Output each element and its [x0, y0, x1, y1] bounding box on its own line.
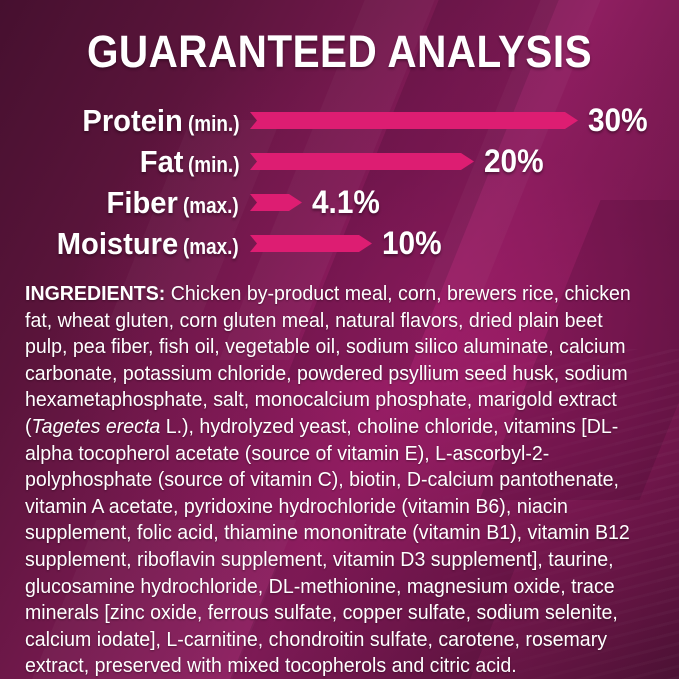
nutrient-label-moisture: Moisture(max.) [0, 226, 250, 262]
nutrient-bar-fat [250, 153, 474, 170]
nutrient-qualifier: (min.) [188, 152, 240, 178]
nutrient-bar-wrap [250, 182, 302, 223]
nutrient-bar-protein [250, 112, 578, 129]
nutrient-value-fiber: 4.1% [312, 184, 380, 221]
nutrient-value-moisture: 10% [382, 225, 442, 262]
nutrient-qualifier: (max.) [183, 193, 239, 219]
ingredients-text-part-1: Chicken by-product meal, corn, brewers r… [25, 283, 631, 438]
nutrient-label-fiber: Fiber(max.) [0, 185, 250, 221]
nutrient-name: Protein [83, 103, 183, 139]
nutrient-row-moisture: Moisture(max.) 10% [0, 223, 679, 264]
nutrient-label-fat: Fat(min.) [0, 144, 250, 180]
nutrient-qualifier: (min.) [188, 111, 240, 137]
nutrient-bar-fiber [250, 194, 302, 211]
nutrient-bar-wrap [250, 223, 372, 264]
nutrient-label-protein: Protein(min.) [0, 103, 250, 139]
ingredients-text-part-2: L.), hydrolyzed yeast, choline chloride,… [25, 416, 630, 677]
guaranteed-analysis-panel: GUARANTEED ANALYSIS Protein(min.) 30% Fa… [0, 0, 679, 679]
nutrient-name: Fat [139, 144, 183, 180]
nutrient-row-fiber: Fiber(max.) 4.1% [0, 182, 679, 223]
nutrient-qualifier: (max.) [183, 234, 239, 260]
ingredients-scientific-name: Tagetes erecta [32, 416, 161, 438]
ingredients-block: INGREDIENTS: Chicken by-product meal, co… [25, 281, 639, 679]
page-title: GUARANTEED ANALYSIS [34, 26, 645, 78]
nutrient-name: Fiber [107, 185, 178, 221]
nutrient-row-protein: Protein(min.) 30% [0, 100, 679, 141]
nutrient-bar-moisture [250, 235, 372, 252]
ingredients-heading: INGREDIENTS: [25, 283, 165, 305]
nutrient-row-fat: Fat(min.) 20% [0, 141, 679, 182]
nutrient-table: Protein(min.) 30% Fat(min.) 20% Fiber(ma [0, 100, 679, 264]
nutrient-bar-wrap [250, 141, 474, 182]
nutrient-name: Moisture [57, 226, 178, 262]
nutrient-bar-wrap [250, 100, 578, 141]
nutrient-value-fat: 20% [484, 143, 544, 180]
nutrient-value-protein: 30% [588, 102, 648, 139]
